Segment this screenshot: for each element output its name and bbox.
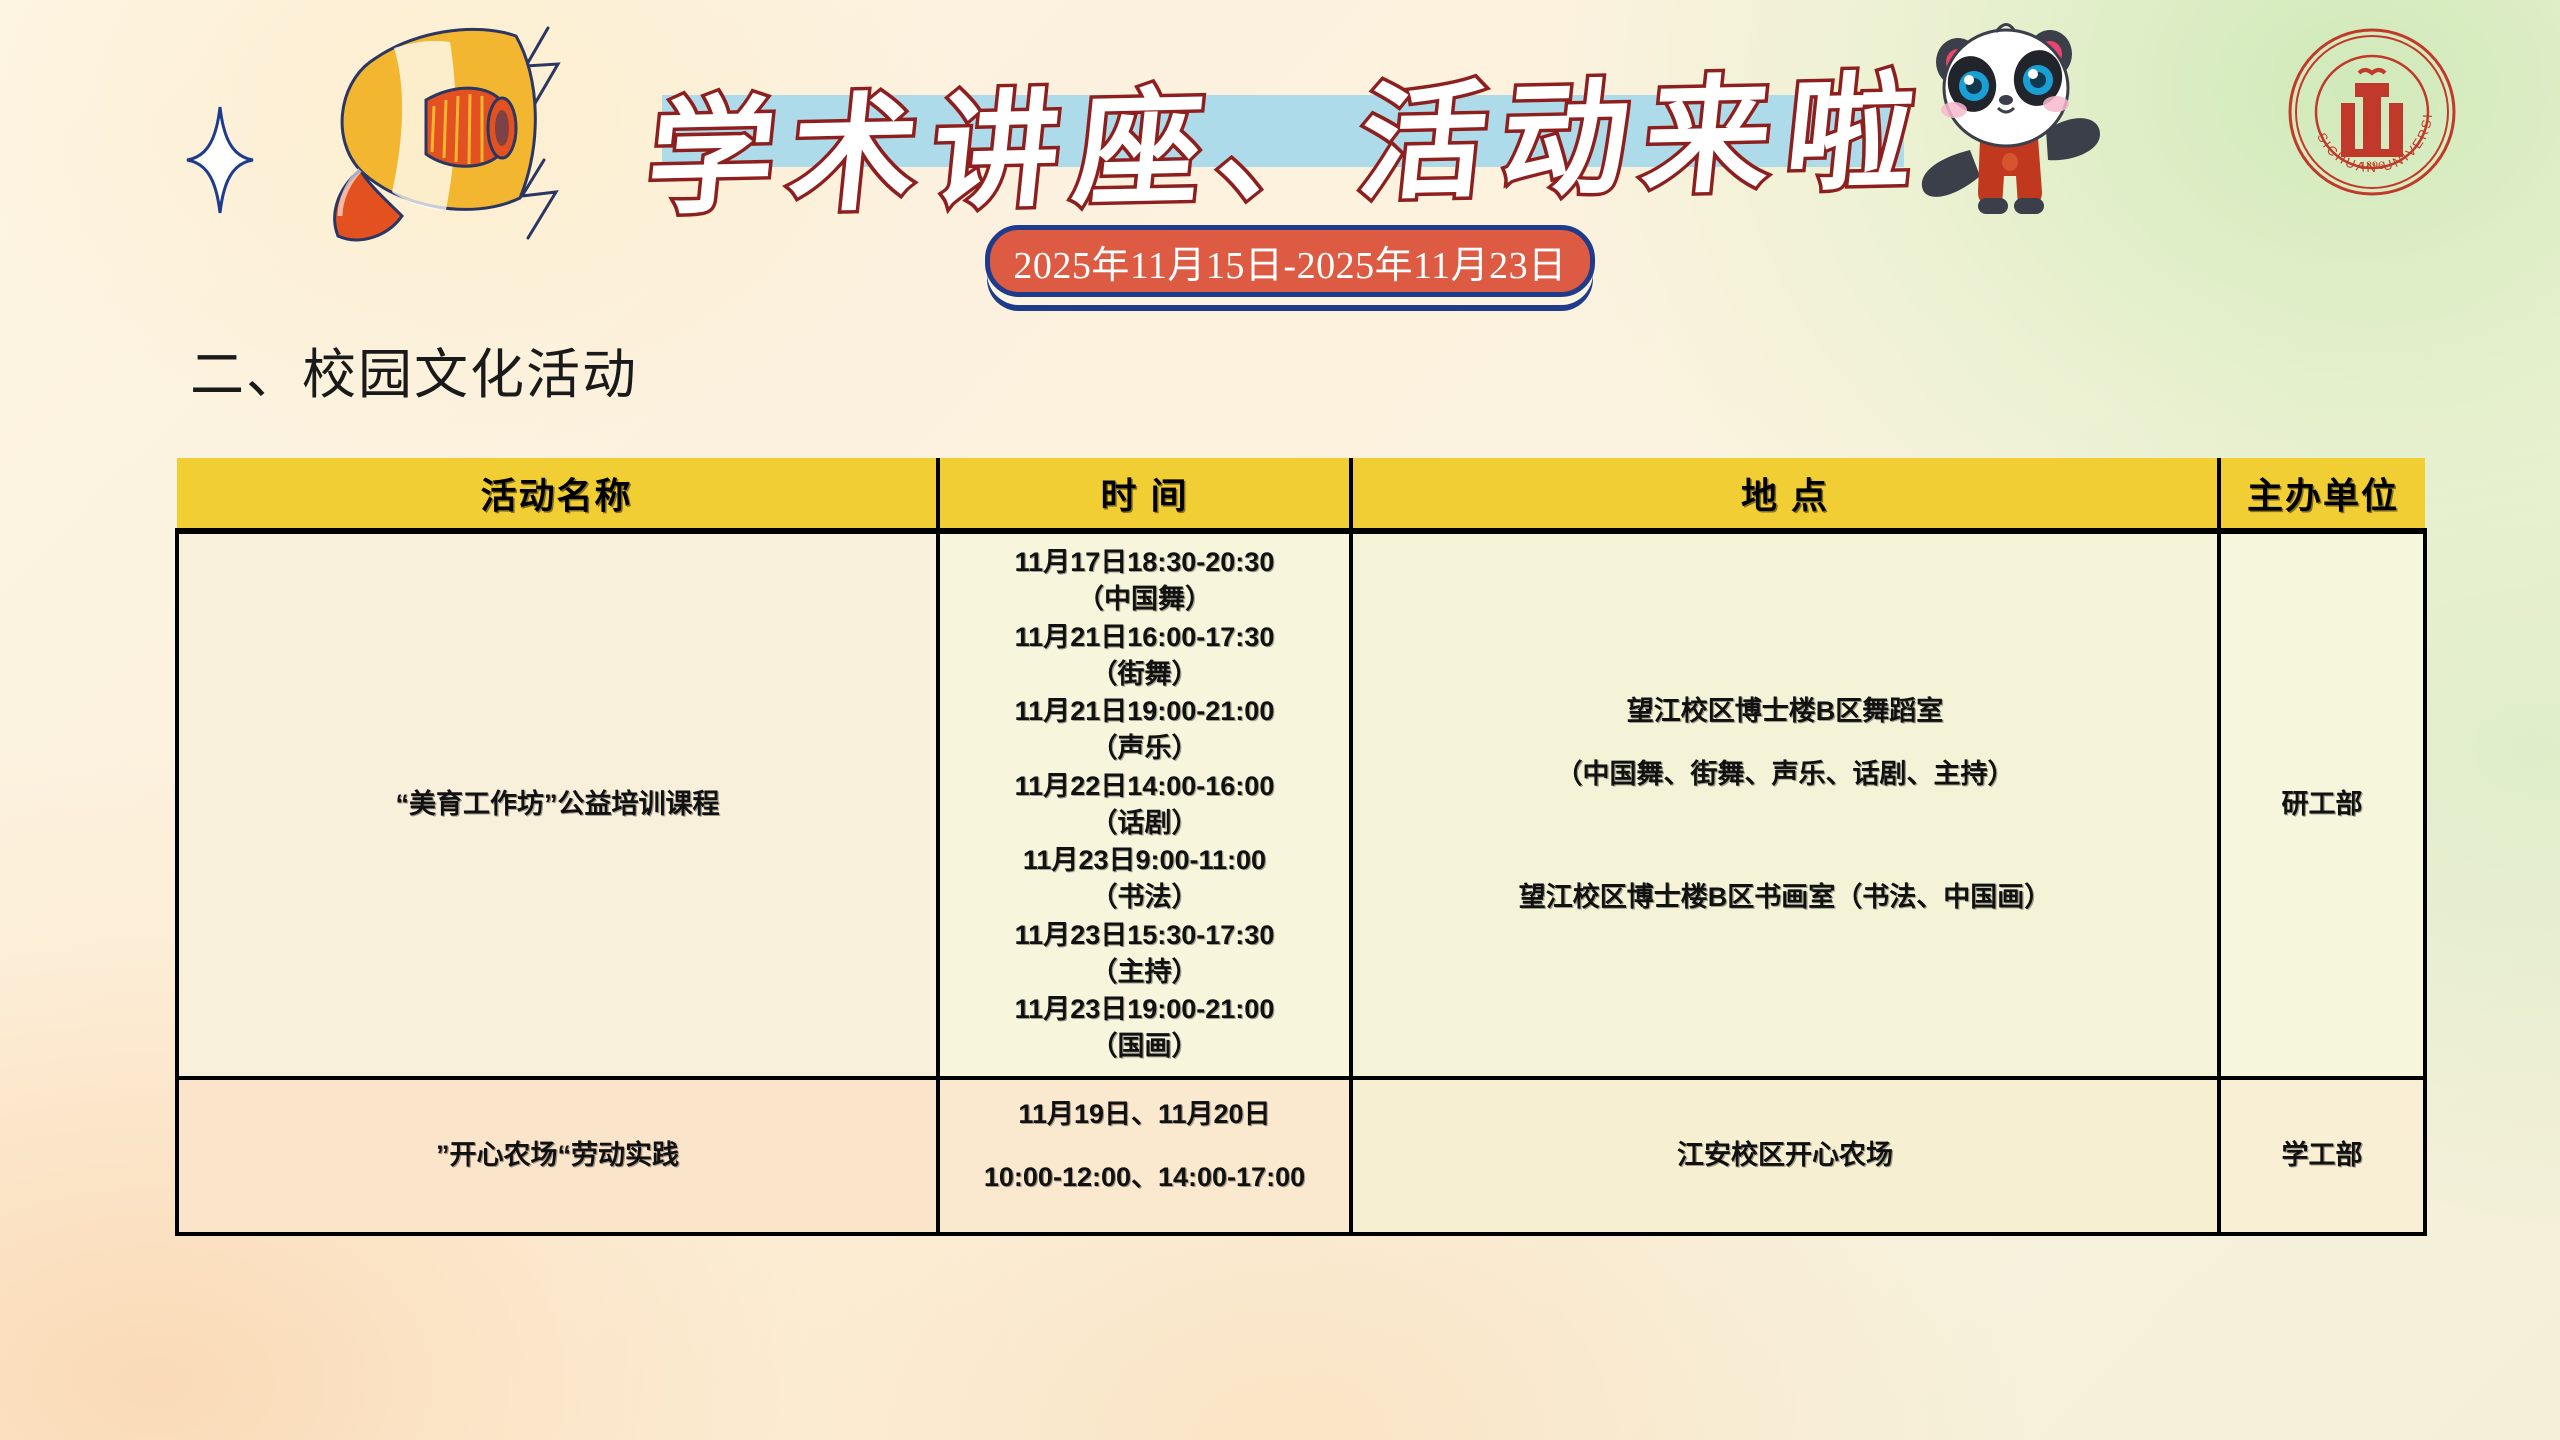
time-line: （街舞） xyxy=(948,656,1341,693)
time-line: 11月23日15:30-17:30 xyxy=(948,917,1341,954)
section-heading: 二、校园文化活动 xyxy=(190,330,638,409)
date-range-badge: 2025年11月15日-2025年11月23日 xyxy=(985,225,1595,297)
cell-time: 11月19日、11月20日 10:00-12:00、14:00-17:00 xyxy=(938,1078,1351,1235)
page-header: 学术讲座、活动来啦 2025年11月15日-2025年11月23日 xyxy=(0,0,2560,310)
cell-location: 望江校区博士楼B区舞蹈室 （中国舞、街舞、声乐、话剧、主持） 望江校区博士楼B区… xyxy=(1351,531,2219,1078)
column-header-time: 时 间 xyxy=(938,458,1351,531)
time-line: 11月21日16:00-17:30 xyxy=(948,619,1341,656)
time-line: 11月23日19:00-21:00 xyxy=(948,991,1341,1028)
table-row: ”开心农场“劳动实践 11月19日、11月20日 10:00-12:00、14:… xyxy=(177,1078,2425,1235)
cell-organizer: 研工部 xyxy=(2219,531,2425,1078)
time-line: 11月21日19:00-21:00 xyxy=(948,693,1341,730)
time-line: 11月22日14:00-16:00 xyxy=(948,768,1341,805)
column-header-location: 地 点 xyxy=(1351,458,2219,531)
time-line: （声乐） xyxy=(948,730,1341,767)
location-line: 望江校区博士楼B区书画室（书法、中国画） xyxy=(1361,879,2209,916)
time-line: 11月19日、11月20日 xyxy=(948,1096,1341,1133)
cell-time: 11月17日18:30-20:30 （中国舞） 11月21日16:00-17:3… xyxy=(938,531,1351,1078)
column-header-activity-name: 活动名称 xyxy=(177,458,938,531)
schedule-table: 活动名称 时 间 地 点 主办单位 “美育工作坊”公益培训课程 11月17日18… xyxy=(175,458,2427,1236)
cell-location: 江安校区开心农场 xyxy=(1351,1078,2219,1235)
schedule-table-wrapper: 活动名称 时 间 地 点 主办单位 “美育工作坊”公益培训课程 11月17日18… xyxy=(175,458,2423,1236)
cell-activity-name: ”开心农场“劳动实践 xyxy=(177,1078,938,1235)
time-line: 11月23日9:00-11:00 xyxy=(948,842,1341,879)
megaphone-icon xyxy=(330,20,660,250)
university-logo: 1896 四 川 大 学 SICHUAN UNIVERSITY xyxy=(2285,25,2460,200)
location-line: （中国舞、街舞、声乐、话剧、主持） xyxy=(1361,756,2209,793)
sparkle-icon xyxy=(185,105,255,215)
time-line: 11月17日18:30-20:30 xyxy=(948,544,1341,581)
page-title: 学术讲座、活动来啦 xyxy=(629,26,1951,243)
time-line: （国画） xyxy=(948,1028,1341,1065)
time-line: （书法） xyxy=(948,879,1341,916)
time-line: （中国舞） xyxy=(948,581,1341,618)
time-line: 10:00-12:00、14:00-17:00 xyxy=(948,1159,1341,1196)
column-header-organizer: 主办单位 xyxy=(2219,458,2425,531)
table-row: “美育工作坊”公益培训课程 11月17日18:30-20:30 （中国舞） 11… xyxy=(177,531,2425,1078)
time-line: （主持） xyxy=(948,954,1341,991)
table-header-row: 活动名称 时 间 地 点 主办单位 xyxy=(177,458,2425,531)
cell-organizer: 学工部 xyxy=(2219,1078,2425,1235)
panda-mascot-icon xyxy=(1910,10,2110,220)
location-line: 望江校区博士楼B区舞蹈室 xyxy=(1361,693,2209,730)
time-line: （话剧） xyxy=(948,805,1341,842)
cell-activity-name: “美育工作坊”公益培训课程 xyxy=(177,531,938,1078)
